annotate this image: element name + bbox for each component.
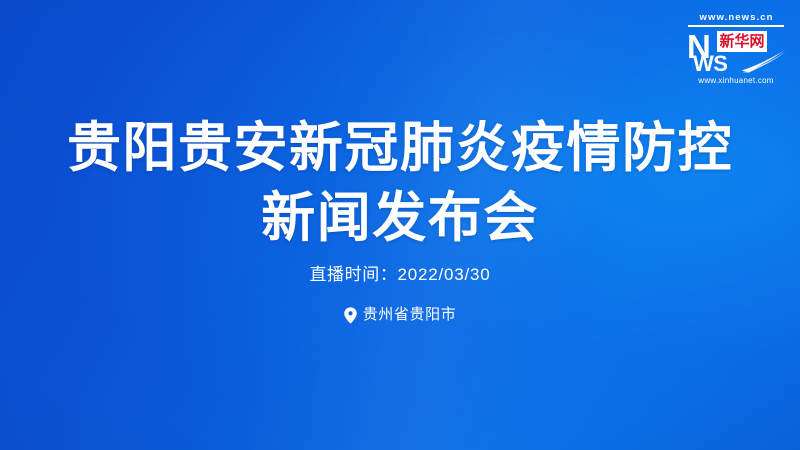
- xinhua-logo[interactable]: www.news.cn N WS 新华网 www.xinhuanet.com: [686, 12, 786, 90]
- page-title: 贵阳贵安新冠肺炎疫情防控 新闻发布会: [0, 112, 800, 252]
- logo-letter-ws: WS: [693, 53, 727, 75]
- logo-divider-rule: [688, 25, 784, 27]
- press-conference-banner: www.news.cn N WS 新华网 www.xinhuanet.com 贵…: [0, 0, 800, 450]
- location-pin-icon: [344, 307, 357, 324]
- broadcast-time-label: 直播时间：: [309, 265, 397, 284]
- headline-line-1: 贵阳贵安新冠肺炎疫情防控: [0, 112, 800, 182]
- swoosh-icon: [740, 49, 786, 73]
- event-location: 贵州省贵阳市: [0, 304, 800, 326]
- logo-url-top: www.news.cn: [687, 12, 786, 23]
- logo-url-bottom: www.xinhuanet.com: [686, 76, 786, 86]
- broadcast-time-value: 2022/03/30: [397, 265, 490, 284]
- logo-brand-chinese: 新华网: [719, 34, 764, 49]
- headline-line-2: 新闻发布会: [0, 182, 800, 252]
- event-meta: 直播时间：2022/03/30 贵州省贵阳市: [0, 262, 800, 326]
- event-location-label: 贵州省贵阳市: [363, 304, 457, 326]
- logo-mark: N WS 新华网: [686, 29, 786, 75]
- broadcast-time: 直播时间：2022/03/30: [0, 262, 800, 288]
